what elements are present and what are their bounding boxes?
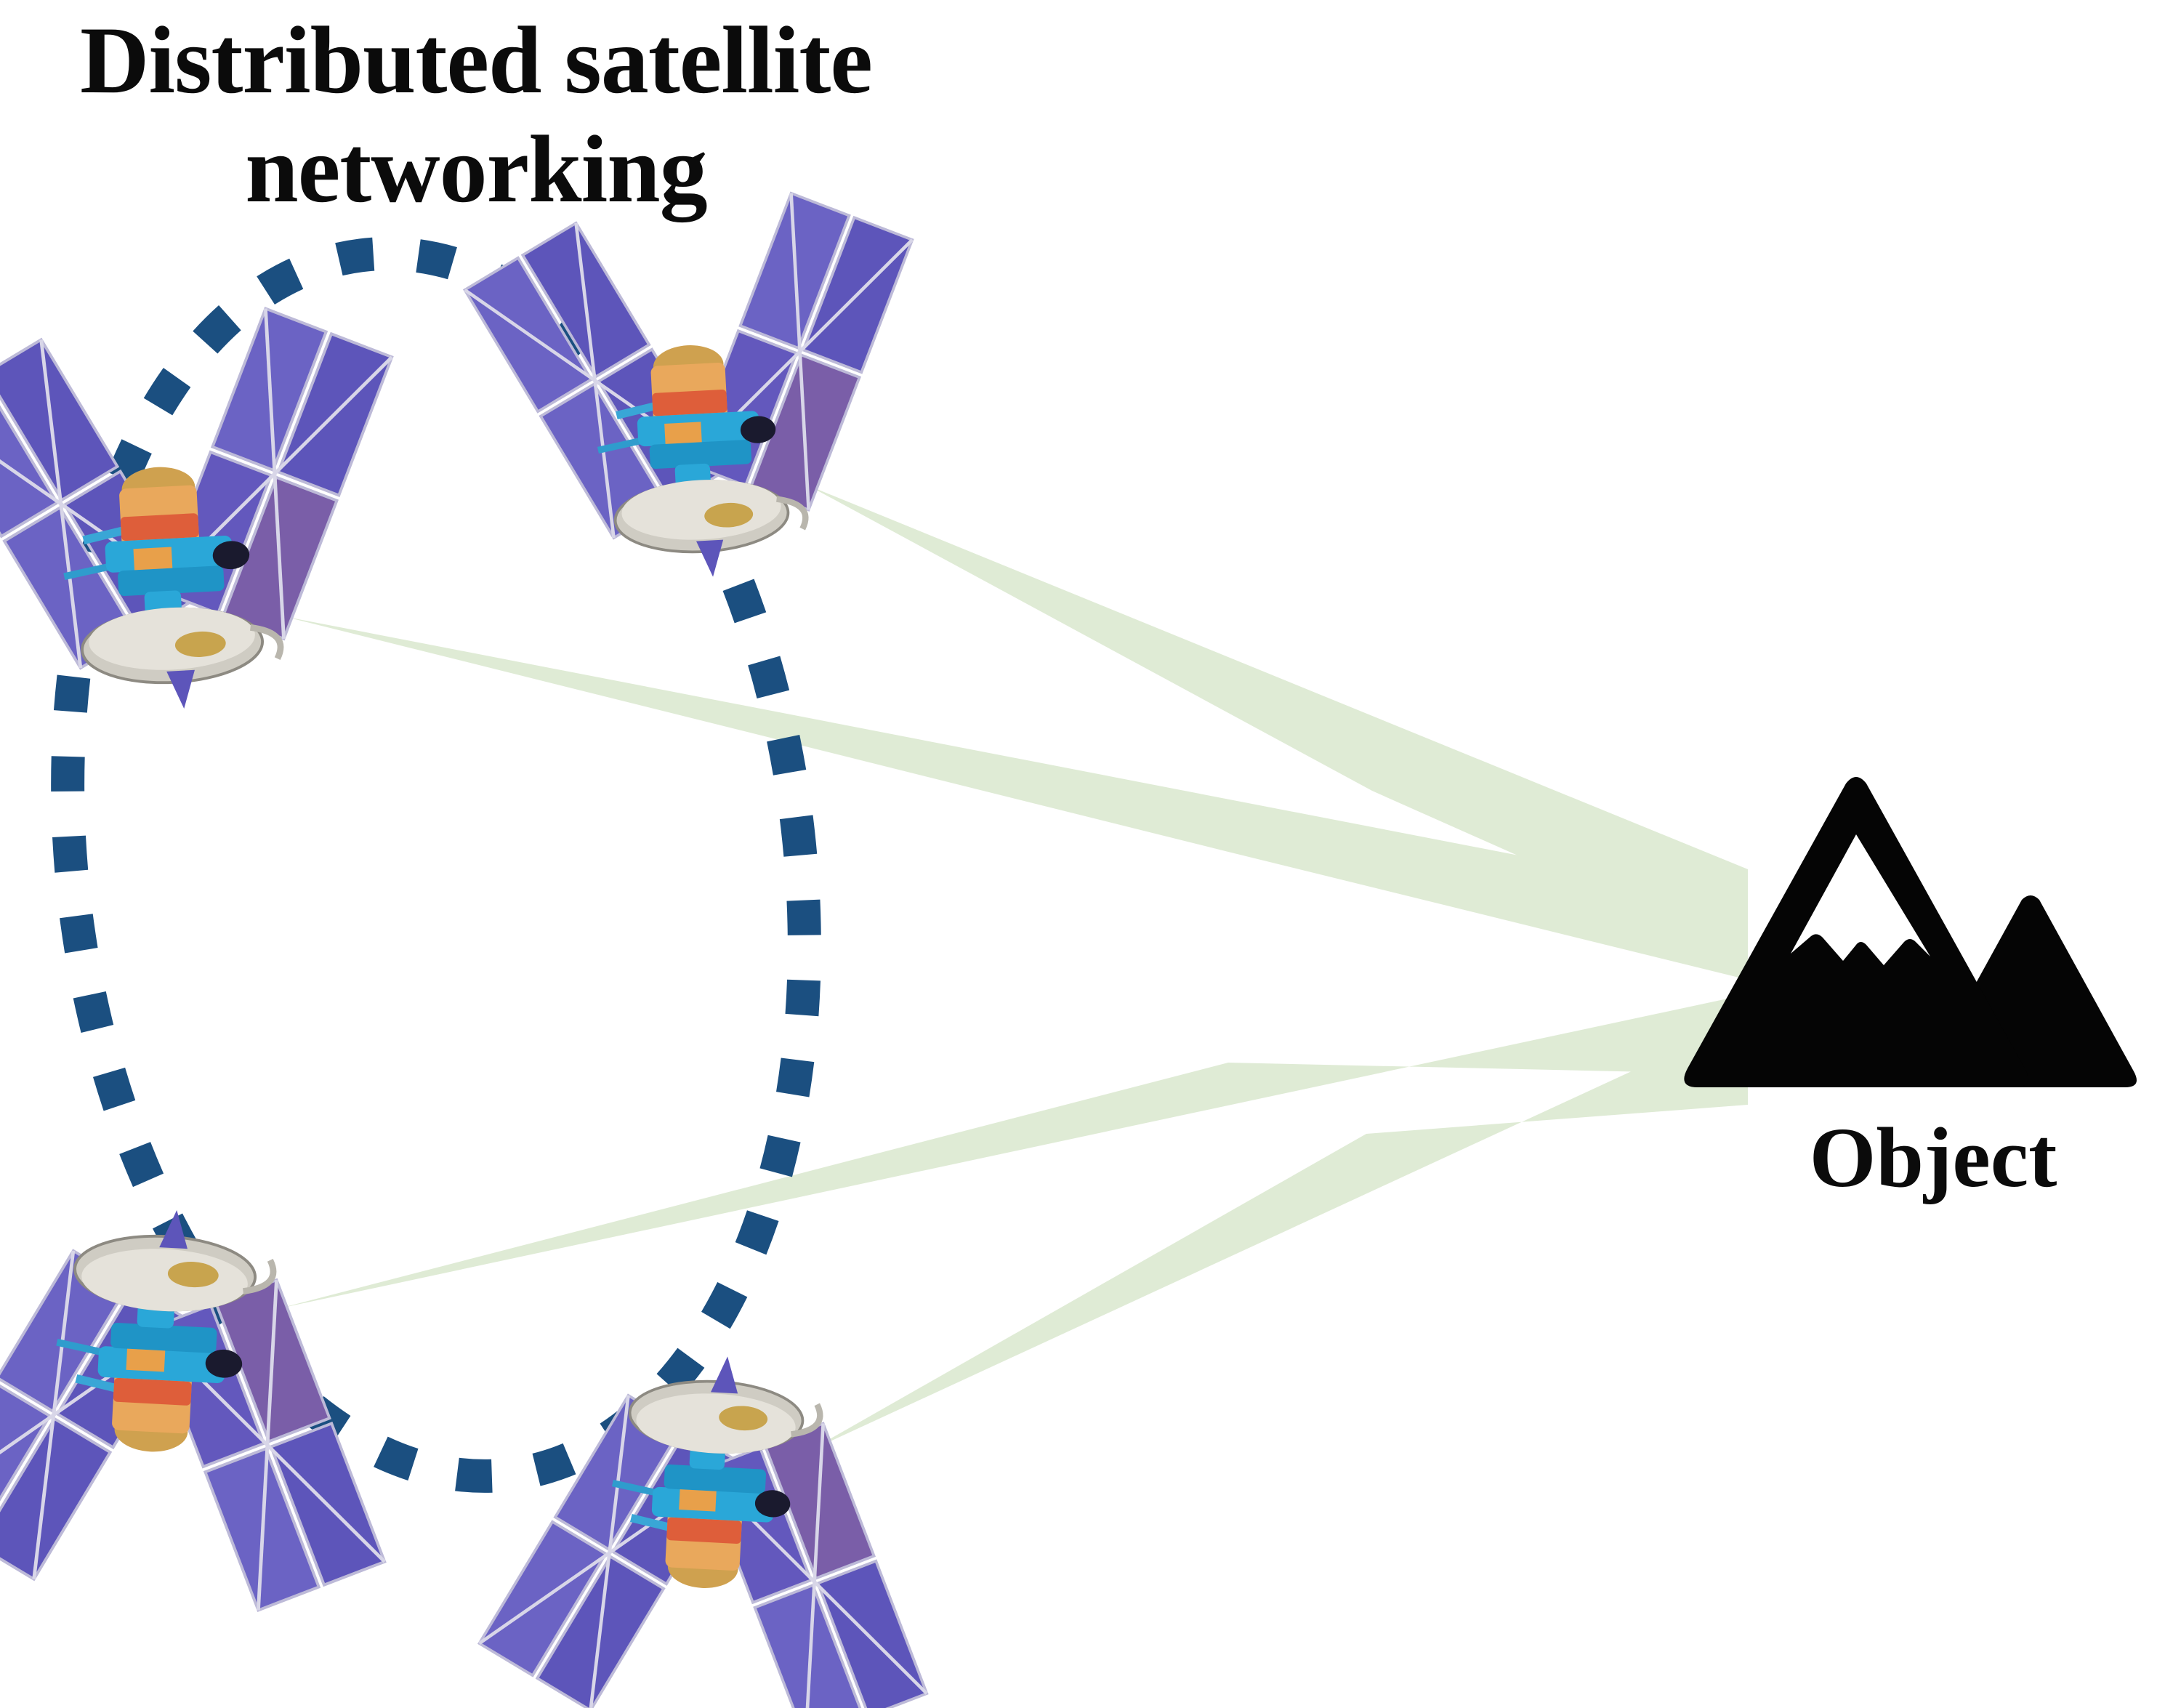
satellite-bottom-center xyxy=(475,1345,944,1708)
satellite-bottom-left xyxy=(0,1198,403,1617)
diagram-canvas: Distributed satellite networking Object xyxy=(0,0,2165,1708)
satellite-network-diagram xyxy=(0,0,2165,1708)
beam-group xyxy=(280,486,1748,1452)
satellite-top-center xyxy=(461,187,930,589)
page-title: Distributed satellite networking xyxy=(29,6,923,225)
satellite-top-left xyxy=(0,302,410,722)
beam-from-bottom-left xyxy=(280,994,1748,1308)
object-label: Object xyxy=(1693,1111,2165,1205)
mountain-icon xyxy=(1684,777,2137,1087)
